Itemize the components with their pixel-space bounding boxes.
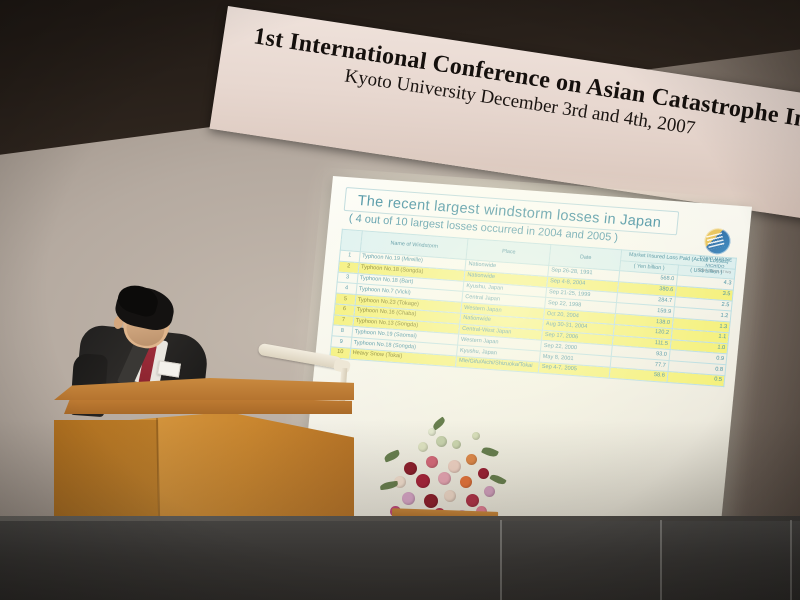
lamp-shade [258,343,343,369]
th-index [340,229,362,251]
lectern-top-surface [54,378,354,400]
lectern-trim-band [64,398,352,414]
windstorm-loss-table: Name of Windstorm Place Date Market Insu… [329,229,737,387]
company-logo: TOKIO MARINE NICHIDO RISK CONSULTING [691,227,741,275]
globe-logo-icon [703,227,731,255]
conference-photo-scene: 1st International Conference on Asian Ca… [0,0,800,600]
floor-shadow [0,420,800,600]
